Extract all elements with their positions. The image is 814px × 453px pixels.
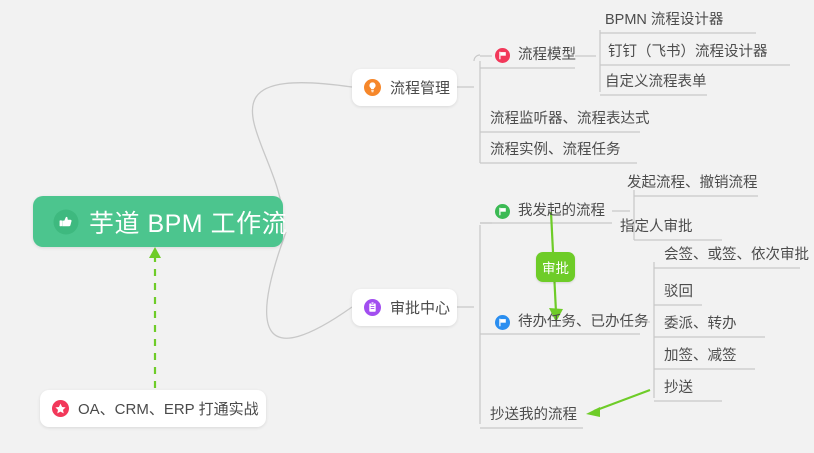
leaf-label: 抄送我的流程 xyxy=(490,408,577,423)
leaf-label: 流程监听器、流程表达式 xyxy=(490,112,650,127)
branch-process-management[interactable]: 流程管理 xyxy=(352,69,457,106)
thumbs-up-icon xyxy=(53,209,79,235)
bottom-note-label: OA、CRM、ERP 打通实战 xyxy=(78,398,259,419)
leaf-cc[interactable]: 抄送 xyxy=(664,375,693,401)
leaf-reject[interactable]: 驳回 xyxy=(664,279,693,305)
leaf-custom-form[interactable]: 自定义流程表单 xyxy=(605,69,707,95)
leaf-listener-expression[interactable]: 流程监听器、流程表达式 xyxy=(490,106,650,132)
flag-icon xyxy=(495,315,510,330)
leaf-delegate-transfer[interactable]: 委派、转办 xyxy=(664,311,737,337)
leaf-label: 会签、或签、依次审批 xyxy=(664,248,809,263)
leaf-label: 自定义流程表单 xyxy=(605,75,707,90)
bottom-note[interactable]: OA、CRM、ERP 打通实战 xyxy=(40,390,266,427)
leaf-assignee-approval[interactable]: 指定人审批 xyxy=(620,214,693,240)
flag-icon xyxy=(495,204,510,219)
leaf-process-model[interactable]: 流程模型 xyxy=(495,42,576,68)
leaf-instance-task[interactable]: 流程实例、流程任务 xyxy=(490,137,621,163)
leaf-label: 待办任务、已办任务 xyxy=(518,315,649,330)
leaf-label: 加签、减签 xyxy=(664,349,737,364)
root-node[interactable]: 芋道 BPM 工作流 xyxy=(33,196,283,247)
link-spine-cap-top-pm xyxy=(474,55,480,61)
leaf-label: 我发起的流程 xyxy=(518,204,605,219)
arrowhead-root xyxy=(149,247,161,258)
approval-badge-label: 审批 xyxy=(542,257,569,277)
leaf-label: 流程模型 xyxy=(518,48,576,63)
leaf-bpmn-designer[interactable]: BPMN 流程设计器 xyxy=(605,7,723,33)
leaf-cc-to-me[interactable]: 抄送我的流程 xyxy=(490,402,577,428)
arrowhead-cc xyxy=(586,407,600,417)
lightbulb-icon xyxy=(364,79,381,96)
branch-approval-center[interactable]: 审批中心 xyxy=(352,289,457,326)
leaf-my-started-process[interactable]: 我发起的流程 xyxy=(495,198,605,224)
leaf-add-remove-sign[interactable]: 加签、减签 xyxy=(664,343,737,369)
leaf-label: BPMN 流程设计器 xyxy=(605,13,723,28)
leaf-todo-done-tasks[interactable]: 待办任务、已办任务 xyxy=(495,309,649,335)
mindmap-canvas: 芋道 BPM 工作流 流程管理 审批中心 xyxy=(0,0,814,453)
leaf-countersign[interactable]: 会签、或签、依次审批 xyxy=(664,242,809,268)
root-label: 芋道 BPM 工作流 xyxy=(89,204,287,240)
branch-label: 流程管理 xyxy=(390,77,450,98)
arrow-cc-to-cc-to-me xyxy=(594,390,650,411)
leaf-label: 抄送 xyxy=(664,381,693,396)
leaf-label: 驳回 xyxy=(664,285,693,300)
leaf-label: 流程实例、流程任务 xyxy=(490,143,621,158)
approval-badge[interactable]: 审批 xyxy=(536,252,575,282)
clipboard-icon xyxy=(364,299,381,316)
leaf-dingtalk-designer[interactable]: 钉钉（飞书）流程设计器 xyxy=(608,39,768,65)
star-icon xyxy=(52,400,69,417)
leaf-start-cancel-process[interactable]: 发起流程、撤销流程 xyxy=(627,170,758,196)
branch-label: 审批中心 xyxy=(390,297,450,318)
flag-icon xyxy=(495,48,510,63)
leaf-label: 发起流程、撤销流程 xyxy=(627,176,758,191)
leaf-label: 指定人审批 xyxy=(620,220,693,235)
link-root-to-approval-center xyxy=(267,232,352,338)
leaf-label: 委派、转办 xyxy=(664,317,737,332)
leaf-label: 钉钉（飞书）流程设计器 xyxy=(608,45,768,60)
